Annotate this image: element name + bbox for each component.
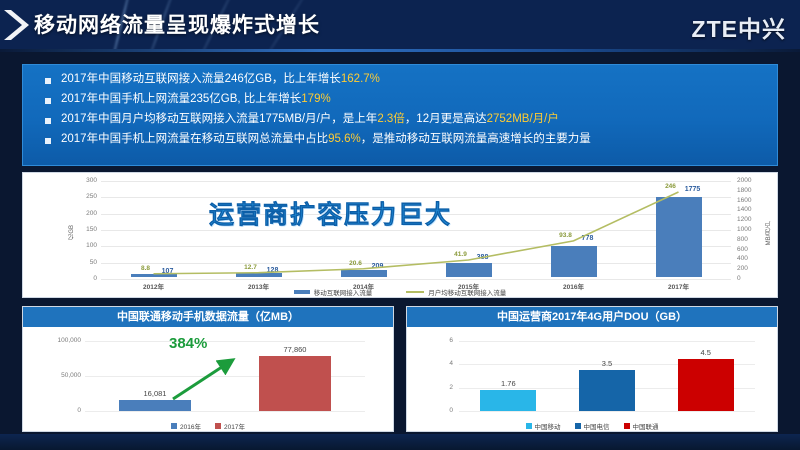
y-axis-label-right: MB/月/户 — [764, 221, 773, 245]
dou-chart-panel: 中国运营商2017年4G用户DOU（GB） 64201.763.54.5中国移动… — [406, 306, 778, 432]
legend-swatch-icon — [575, 423, 581, 429]
main-chart-legend: 移动互联网接入流量 月户均移动互联网接入流量 — [23, 285, 777, 298]
y-axis-tick-right: 1000 — [737, 226, 763, 233]
bullet-square-icon — [45, 118, 51, 124]
bar — [259, 356, 331, 411]
page-title: 移动网络流量呈现爆炸式增长 — [34, 9, 320, 39]
data-label-line-series: 1775 — [671, 186, 715, 193]
y-axis-tick: 4 — [431, 360, 453, 367]
bullet-square-icon — [45, 98, 51, 104]
bullet-item: 2017年中国手机上网流量235亿GB, 比上年增长179% — [37, 92, 767, 107]
bullet-item: 2017年中国月户均移动互联网接入流量1775MB/月/户，是上年2.3倍，12… — [37, 112, 767, 127]
bullet-plain: 2017年中国月户均移动互联网接入流量1775MB/月/户，是上年 — [61, 113, 377, 125]
y-axis-tick-right: 200 — [737, 265, 763, 272]
y-axis-tick-right: 2000 — [737, 177, 763, 184]
bullet-item: 2017年中国移动互联网接入流量246亿GB，比上年增长162.7% — [37, 72, 767, 87]
gridline — [459, 411, 755, 412]
y-axis-tick: 0 — [431, 407, 453, 414]
bullet-square-icon — [45, 78, 51, 84]
y-axis-tick-right: 1200 — [737, 216, 763, 223]
bullet-highlight: 2752MB/月/户 — [487, 113, 559, 125]
bullet-plain: 2017年中国手机上网流量235亿GB, 比上年增长 — [61, 93, 301, 105]
bullet-plain: ，是推动移动互联网流量高速增长的主要力量 — [361, 133, 591, 145]
bar — [480, 390, 536, 411]
bullet-highlight: 162.7% — [341, 73, 380, 85]
header-underline — [0, 49, 800, 52]
bullet-plain: ，12月更是高达 — [405, 113, 487, 125]
data-label-line-series: 388 — [461, 254, 505, 261]
legend-label: 2017年 — [224, 424, 245, 431]
bullet-panel: 2017年中国移动互联网接入流量246亿GB，比上年增长162.7%2017年中… — [22, 64, 778, 166]
gridline — [101, 279, 731, 280]
data-label-line-series: 128 — [251, 267, 295, 274]
data-label: 16,081 — [115, 389, 195, 398]
bar — [341, 270, 387, 277]
y-axis-tick: 50,000 — [37, 372, 81, 379]
unicom-chart-panel: 中国联通移动手机数据流量（亿MB） 100,00050,000016,08177… — [22, 306, 394, 432]
y-axis-tick: 100,000 — [37, 337, 81, 344]
gridline — [101, 181, 731, 182]
bar — [446, 263, 492, 277]
bullet-plain: 2017年中国移动互联网接入流量246亿GB，比上年增长 — [61, 73, 341, 85]
bar — [119, 400, 191, 411]
y-axis-tick-left: 100 — [71, 242, 97, 249]
legend-item: 中国联通 — [624, 421, 659, 431]
y-axis-tick: 6 — [431, 337, 453, 344]
data-label-line-series: 107 — [146, 268, 190, 275]
data-label-line-series: 209 — [356, 263, 400, 270]
bullet-highlight: 95.6% — [328, 133, 361, 145]
bar — [579, 370, 635, 411]
data-label: 4.5 — [676, 348, 736, 357]
gridline — [459, 341, 755, 342]
gridline — [85, 411, 365, 412]
y-axis-tick-left: 250 — [71, 193, 97, 200]
y-axis-tick-left: 0 — [71, 275, 97, 282]
y-axis-tick-left: 300 — [71, 177, 97, 184]
gridline — [101, 246, 731, 247]
main-chart-callout: 运营商扩容压力巨大 — [209, 195, 452, 231]
y-axis-tick: 2 — [431, 384, 453, 391]
legend-swatch-bar-icon — [294, 290, 310, 294]
legend-item-bar: 移动互联网接入流量 — [294, 287, 373, 297]
dou-chart-title: 中国运营商2017年4G用户DOU（GB） — [407, 307, 777, 327]
growth-percent-label: 384% — [169, 335, 207, 352]
legend-label: 中国联通 — [633, 424, 659, 431]
y-axis-tick-right: 0 — [737, 275, 763, 282]
legend-label: 中国电信 — [584, 424, 610, 431]
legend-item: 中国电信 — [575, 421, 610, 431]
bullet-text: 2017年中国手机上网流量235亿GB, 比上年增长179% — [61, 92, 331, 107]
y-axis-tick-right: 800 — [737, 236, 763, 243]
unicom-chart-title: 中国联通移动手机数据流量（亿MB） — [23, 307, 393, 327]
data-label: 77,860 — [255, 345, 335, 354]
y-axis-tick-right: 400 — [737, 255, 763, 262]
legend-label-bar: 移动互联网接入流量 — [314, 287, 373, 297]
bullet-text: 2017年中国移动互联网接入流量246亿GB，比上年增长162.7% — [61, 72, 380, 87]
gridline — [85, 341, 365, 342]
y-axis-tick-right: 600 — [737, 246, 763, 253]
legend-item-line: 月户均移动互联网接入流量 — [406, 287, 506, 297]
bar — [678, 359, 734, 412]
legend-swatch-icon — [624, 423, 630, 429]
legend-swatch-line-icon — [406, 291, 424, 293]
bullet-highlight: 179% — [301, 93, 330, 105]
y-axis-tick-left: 200 — [71, 210, 97, 217]
chart-legend: 中国移动中国电信中国联通 — [407, 421, 777, 431]
main-chart-plot: 3002502001501005002000180016001400120010… — [23, 173, 777, 297]
bullet-square-icon — [45, 138, 51, 144]
bullet-text: 2017年中国月户均移动互联网接入流量1775MB/月/户，是上年2.3倍，12… — [61, 112, 559, 127]
legend-swatch-icon — [526, 423, 532, 429]
legend-label: 中国移动 — [535, 424, 561, 431]
y-axis-tick-right: 1600 — [737, 197, 763, 204]
y-axis-tick-right: 1800 — [737, 187, 763, 194]
legend-item: 2017年 — [215, 421, 245, 431]
slide: 移动网络流量呈现爆炸式增长 ZTE中兴 2017年中国移动互联网接入流量246亿… — [0, 0, 800, 450]
bar — [551, 246, 597, 277]
slide-header: 移动网络流量呈现爆炸式增长 ZTE中兴 — [0, 0, 800, 52]
legend-label-line: 月户均移动互联网接入流量 — [428, 287, 506, 297]
legend-item: 中国移动 — [526, 421, 561, 431]
bullet-text: 2017年中国手机上网流量在移动互联网总流量中占比95.6%，是推动移动互联网流… — [61, 132, 591, 147]
bullet-plain: 2017年中国手机上网流量在移动互联网总流量中占比 — [61, 133, 328, 145]
data-label: 3.5 — [577, 359, 637, 368]
zte-logo: ZTE中兴 — [692, 10, 786, 44]
bullet-highlight: 2.3倍 — [377, 113, 405, 125]
unicom-chart-plot: 100,00050,000016,08177,860384%2016年2017年 — [23, 327, 393, 432]
main-chart-panel: 3002502001501005002000180016001400120010… — [22, 172, 778, 298]
y-axis-tick: 0 — [37, 407, 81, 414]
bar — [656, 197, 702, 277]
legend-label: 2016年 — [180, 424, 201, 431]
gridline — [101, 263, 731, 264]
dou-chart-plot: 64201.763.54.5中国移动中国电信中国联通 — [407, 327, 777, 432]
chevron-right-icon — [2, 8, 32, 42]
legend-item: 2016年 — [171, 421, 201, 431]
chart-legend: 2016年2017年 — [23, 421, 393, 431]
footer-strip — [0, 434, 800, 450]
legend-swatch-icon — [215, 423, 221, 429]
bullet-item: 2017年中国手机上网流量在移动互联网总流量中占比95.6%，是推动移动互联网流… — [37, 132, 767, 147]
y-axis-label-left: 亿GB — [67, 225, 76, 240]
data-label-line-series: 778 — [566, 235, 610, 242]
legend-swatch-icon — [171, 423, 177, 429]
y-axis-tick-left: 50 — [71, 259, 97, 266]
data-label: 1.76 — [478, 379, 538, 388]
y-axis-tick-right: 1400 — [737, 206, 763, 213]
